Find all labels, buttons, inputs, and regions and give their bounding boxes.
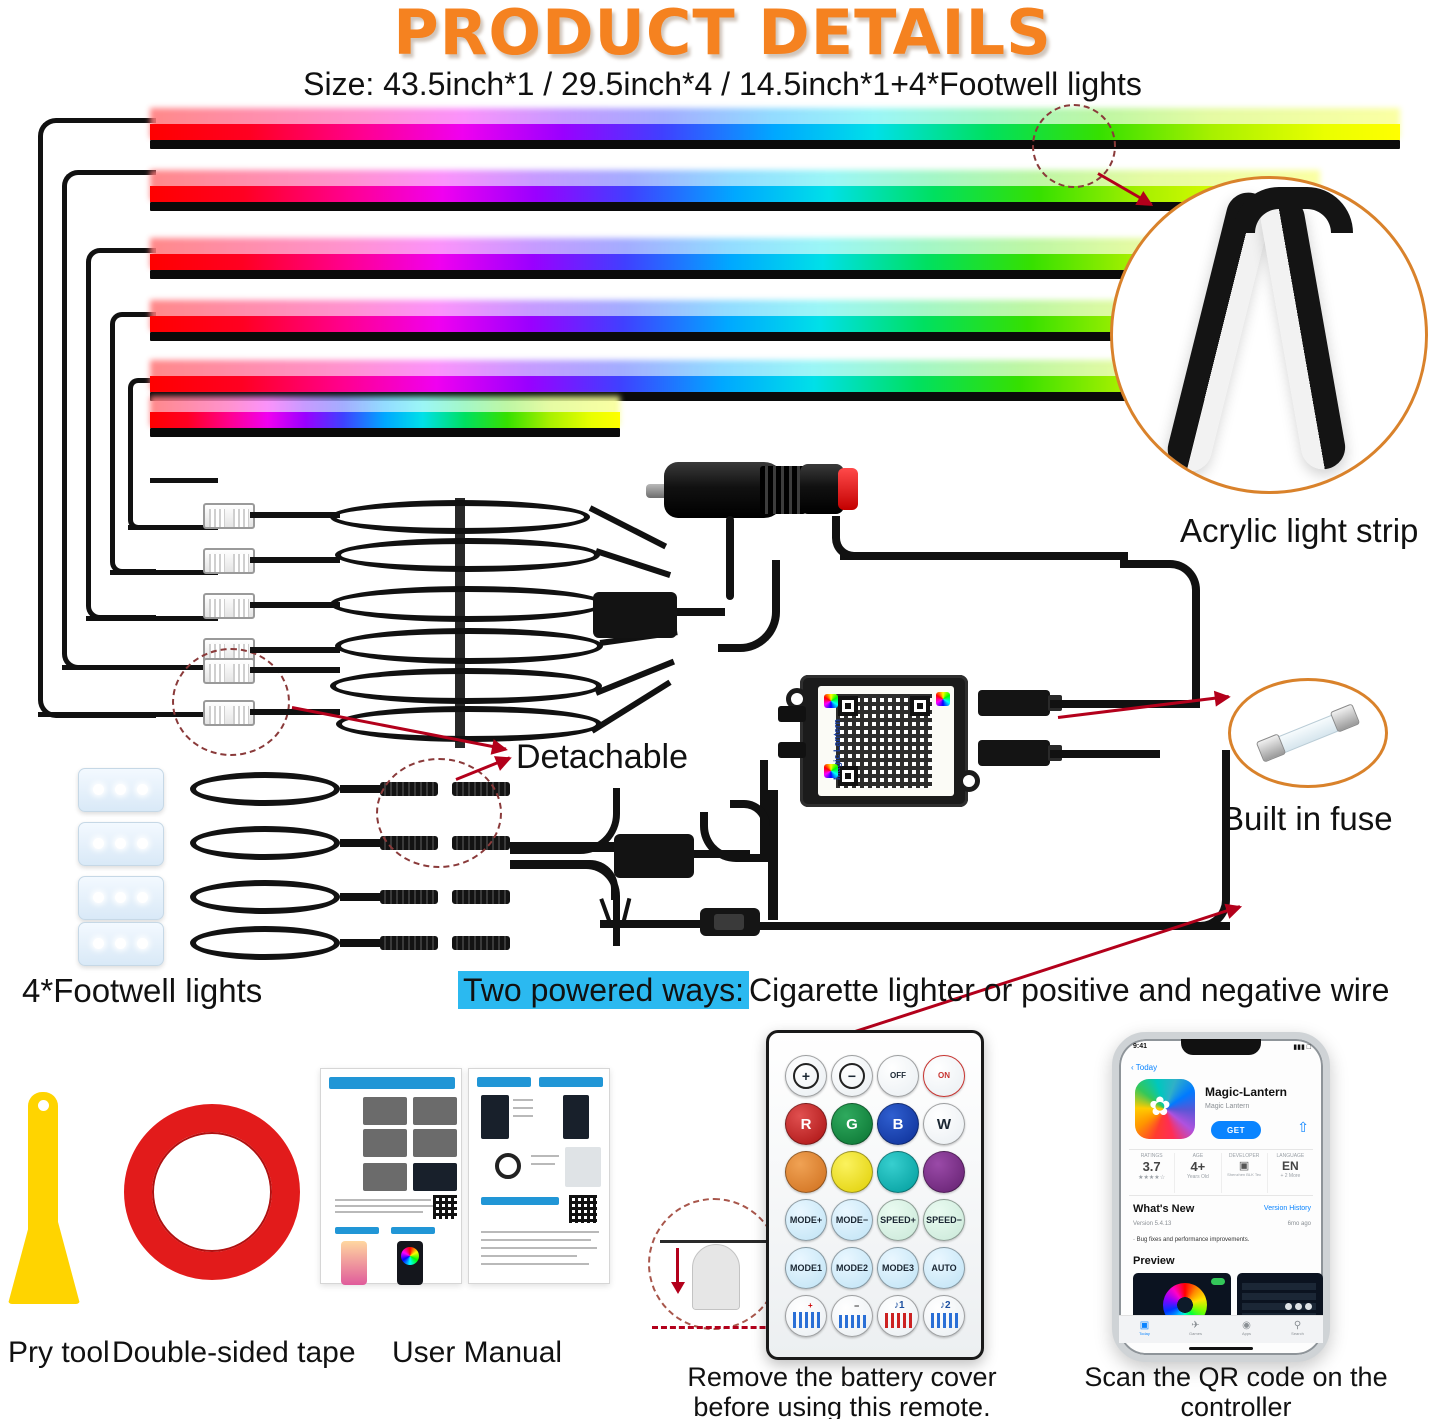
brand-logo-chip bbox=[936, 692, 950, 706]
footwell-cable bbox=[190, 772, 340, 806]
manual-page-2 bbox=[468, 1068, 610, 1284]
double-sided-tape-roll bbox=[124, 1104, 300, 1280]
app-version: Version 5.4.13 bbox=[1133, 1221, 1171, 1227]
app-stats-row: RATINGS 3.7 ★★★★☆ AGE 4+ Years Old DEVEL… bbox=[1129, 1153, 1313, 1193]
phone-back-link[interactable]: ‹ Today bbox=[1131, 1063, 1157, 1072]
tab-label: Apps bbox=[1221, 1331, 1272, 1336]
color-blue-label: B bbox=[893, 1117, 904, 1132]
phone-tab-bar: ▣ Today ✈ Games ◉ Apps ⚲ Search bbox=[1119, 1315, 1323, 1343]
manual-header-band bbox=[477, 1077, 531, 1087]
brightness-up-button[interactable]: + bbox=[785, 1055, 827, 1097]
pry-tool-label: Pry tool bbox=[8, 1336, 110, 1370]
color-purple-button[interactable] bbox=[923, 1151, 965, 1193]
phone-status-icons: ▮▮▮ □ bbox=[1293, 1043, 1311, 1051]
harness-branch bbox=[595, 548, 671, 578]
pin-connector bbox=[203, 548, 255, 574]
cable-loop bbox=[335, 628, 603, 664]
color-white-label: W bbox=[937, 1117, 951, 1132]
stat-sub: ★★★★☆ bbox=[1129, 1174, 1174, 1181]
equalizer-icon bbox=[931, 1313, 959, 1328]
color-red-label: R bbox=[801, 1117, 812, 1132]
strip-tail-4 bbox=[110, 570, 218, 575]
controller-port bbox=[778, 706, 806, 722]
mode-down-button[interactable]: MODE− bbox=[831, 1199, 873, 1241]
footwell-jack-female bbox=[452, 890, 510, 904]
manual-subheader-band bbox=[335, 1227, 379, 1234]
brightness-down-button[interactable]: − bbox=[831, 1055, 873, 1097]
equalizer-icon bbox=[885, 1313, 913, 1328]
stat-age: AGE 4+ Years Old bbox=[1174, 1153, 1220, 1193]
search-icon: ⚲ bbox=[1272, 1320, 1323, 1331]
tab-games[interactable]: ✈ Games bbox=[1170, 1316, 1221, 1343]
manual-phone-figure bbox=[341, 1241, 367, 1285]
qr-eye bbox=[910, 696, 930, 716]
mode-down-label: MODE− bbox=[836, 1216, 868, 1225]
manual-text-line bbox=[513, 1099, 533, 1101]
mode2-button[interactable]: MODE2 bbox=[831, 1247, 873, 1289]
footwell-light-module bbox=[78, 768, 164, 812]
whats-new-heading: What's New bbox=[1133, 1203, 1194, 1215]
music-mode1-button[interactable]: ♪1 bbox=[877, 1295, 919, 1337]
cable-tie bbox=[455, 498, 465, 748]
scheduler-row bbox=[1242, 1283, 1316, 1290]
manual-photo bbox=[563, 1095, 589, 1139]
brightness-down-icon: − bbox=[839, 1063, 865, 1089]
strip-base bbox=[150, 140, 1400, 149]
qr-eye bbox=[838, 696, 858, 716]
footwell-lead bbox=[340, 939, 382, 947]
ir-remote-control[interactable]: + − OFF ON R G B W MODE+ bbox=[766, 1030, 984, 1360]
music-sensitivity-down-button[interactable]: − bbox=[831, 1295, 873, 1337]
battery-cover-arrow-shaft bbox=[676, 1248, 679, 1284]
equalizer-icon bbox=[839, 1315, 867, 1328]
manual-text-line bbox=[481, 1255, 577, 1257]
strip-core bbox=[150, 124, 1400, 140]
mode2-label: MODE2 bbox=[836, 1264, 868, 1273]
speed-down-button[interactable]: SPEED− bbox=[923, 1199, 965, 1241]
lotus-icon: ✿ bbox=[1149, 1093, 1171, 1119]
stat-sub: Years Old bbox=[1175, 1174, 1220, 1180]
acrylic-strip-photo-bend bbox=[1257, 193, 1348, 472]
acrylic-photo-inset bbox=[1110, 176, 1428, 494]
version-history-link[interactable]: Version History bbox=[1264, 1205, 1311, 1212]
share-icon[interactable]: ⇧ bbox=[1297, 1119, 1309, 1136]
manual-photo bbox=[413, 1129, 457, 1157]
stat-sub: + 2 More bbox=[1268, 1173, 1313, 1179]
power-off-icon: OFF bbox=[890, 1072, 906, 1080]
strip-core bbox=[150, 412, 620, 428]
dc-barrel-plug bbox=[978, 690, 1050, 716]
power-ways-rest: Cigarette lighter or positive and negati… bbox=[749, 972, 1389, 1008]
harness-branch bbox=[589, 505, 667, 549]
footwell-cable bbox=[190, 826, 340, 860]
mode3-label: MODE3 bbox=[882, 1264, 914, 1273]
remote-battery-caption: Remove the battery cover before using th… bbox=[632, 1362, 1052, 1419]
mount-ear bbox=[958, 770, 980, 792]
fuse-photo-inset bbox=[1228, 678, 1388, 788]
cable-loop bbox=[330, 586, 605, 622]
harness-lead bbox=[250, 557, 340, 563]
tab-today[interactable]: ▣ Today bbox=[1119, 1316, 1170, 1343]
strip-base bbox=[150, 428, 620, 437]
battery-cover-line bbox=[660, 1240, 772, 1243]
dc-route-corner bbox=[832, 516, 876, 560]
manual-text-line bbox=[531, 1155, 559, 1157]
manual-subheader-band bbox=[481, 1197, 559, 1205]
manual-subheader-band bbox=[391, 1227, 435, 1234]
power-toggle bbox=[1211, 1278, 1225, 1285]
stat-value: EN bbox=[1268, 1159, 1313, 1173]
built-in-fuse-label: Built in fuse bbox=[1222, 800, 1393, 838]
music-minus-icon: − bbox=[854, 1302, 859, 1311]
app-caption-line1: Scan the QR code on the controller bbox=[1084, 1362, 1387, 1419]
brightness-up-icon: + bbox=[793, 1063, 819, 1089]
scheduler-row bbox=[1242, 1293, 1316, 1300]
stat-value: 3.7 bbox=[1129, 1159, 1174, 1174]
footwell-cable bbox=[190, 880, 340, 914]
footwell-light-module bbox=[78, 822, 164, 866]
power-ways-highlight: Two powered ways: bbox=[458, 971, 749, 1009]
manual-text-line bbox=[481, 1263, 589, 1265]
manual-qr-code bbox=[433, 1195, 457, 1219]
manual-text-line bbox=[335, 1205, 435, 1207]
equalizer-icon bbox=[793, 1312, 821, 1328]
color-red-button[interactable]: R bbox=[785, 1103, 827, 1145]
music-mode2-button[interactable]: ♪2 bbox=[923, 1295, 965, 1337]
music-sensitivity-up-button[interactable]: + bbox=[785, 1295, 827, 1337]
games-icon: ✈ bbox=[1170, 1320, 1221, 1331]
manual-photo bbox=[363, 1163, 407, 1191]
manual-photo bbox=[363, 1129, 407, 1157]
divider bbox=[1129, 1149, 1313, 1150]
manual-qr-code bbox=[569, 1195, 597, 1223]
pry-tool-hole bbox=[38, 1100, 49, 1111]
led-strip-1 bbox=[150, 108, 1400, 154]
auto-label: AUTO bbox=[931, 1264, 956, 1273]
preview-heading: Preview bbox=[1133, 1255, 1175, 1267]
tab-search[interactable]: ⚲ Search bbox=[1272, 1316, 1323, 1343]
harness-lead bbox=[250, 647, 340, 653]
dc-route-down bbox=[1150, 750, 1230, 930]
product-details-infographic: PRODUCT DETAILS Size: 43.5inch*1 / 29.5i… bbox=[0, 0, 1445, 1419]
page-title: PRODUCT DETAILS bbox=[0, 0, 1445, 69]
music-mode2-icon: ♪2 bbox=[940, 1301, 951, 1311]
manual-page-1 bbox=[320, 1068, 462, 1284]
dc-route-up bbox=[1120, 560, 1200, 708]
apps-icon: ◉ bbox=[1221, 1320, 1272, 1331]
inline-fuse-body bbox=[714, 914, 744, 930]
footwell-lead bbox=[340, 785, 382, 793]
controller-port bbox=[778, 742, 806, 758]
music-mode1-icon: ♪1 bbox=[894, 1301, 905, 1311]
footwell-branch bbox=[510, 842, 615, 852]
stat-sub: Shenzhen BLK Tec bbox=[1222, 1172, 1267, 1177]
manual-photo bbox=[481, 1095, 509, 1139]
footwell-cable bbox=[190, 926, 340, 960]
color-cyan-button[interactable] bbox=[877, 1151, 919, 1193]
manual-header-band bbox=[329, 1077, 455, 1089]
color-green-label: G bbox=[846, 1117, 858, 1132]
music-plus-icon: + bbox=[808, 1302, 813, 1310]
footwell-jack-female bbox=[452, 936, 510, 950]
manual-text-line bbox=[335, 1211, 423, 1213]
manual-text-line bbox=[531, 1163, 555, 1165]
harness-branch bbox=[595, 659, 675, 696]
brand-logo-chip bbox=[824, 694, 838, 708]
footwell-lights-label: 4*Footwell lights bbox=[22, 972, 262, 1010]
speed-up-button[interactable]: SPEED+ bbox=[877, 1199, 919, 1241]
mode1-button[interactable]: MODE1 bbox=[785, 1247, 827, 1289]
app-developer: Magic Lantern bbox=[1205, 1103, 1249, 1110]
stat-language: LANGUAGE EN + 2 More bbox=[1267, 1153, 1313, 1193]
stat-value: ▣ bbox=[1222, 1159, 1267, 1172]
power-ways-caption: Two powered ways:Cigarette lighter or po… bbox=[458, 972, 1389, 1009]
harness-lead bbox=[250, 667, 340, 673]
manual-header-band bbox=[539, 1077, 603, 1087]
stat-value: 4+ bbox=[1175, 1159, 1220, 1174]
pin-connector bbox=[203, 503, 255, 529]
changelog-text: · Bug fixes and performance improvements… bbox=[1133, 1237, 1249, 1243]
size-subtitle: Size: 43.5inch*1 / 29.5inch*4 / 14.5inch… bbox=[0, 66, 1445, 103]
battery-cover-tab bbox=[692, 1244, 740, 1310]
manual-cable-figure bbox=[495, 1153, 521, 1179]
color-orange-button[interactable] bbox=[785, 1151, 827, 1193]
manual-text-line bbox=[481, 1231, 599, 1233]
remote-caption-line2: before using this remote. bbox=[693, 1392, 990, 1419]
phone-back-label: Today bbox=[1136, 1063, 1157, 1072]
smartphone-mockup: 9:41 ▮▮▮ □ ‹ Today ✿ Magic-Lantern Magic… bbox=[1112, 1032, 1330, 1362]
dc-route-bottom bbox=[760, 922, 1230, 930]
mode-up-label: MODE+ bbox=[790, 1216, 822, 1225]
detachable-highlight-circle-upper bbox=[172, 648, 290, 756]
plug-end-cap bbox=[838, 468, 858, 510]
manual-colorwheel-figure bbox=[401, 1247, 419, 1265]
manual-text-line bbox=[335, 1199, 431, 1201]
divider bbox=[1129, 1195, 1313, 1196]
color-green-button[interactable]: G bbox=[831, 1103, 873, 1145]
phone-notch bbox=[1181, 1039, 1261, 1055]
power-on-button[interactable]: ON bbox=[923, 1055, 965, 1097]
remote-caption-line1: Remove the battery cover bbox=[687, 1362, 996, 1392]
color-yellow-button[interactable] bbox=[831, 1151, 873, 1193]
app-name: Magic-Lantern bbox=[1205, 1085, 1287, 1099]
plug-lead-curve bbox=[718, 560, 780, 652]
app-download-caption: Scan the QR code on the controller or ma… bbox=[1030, 1362, 1442, 1419]
cable-loop bbox=[335, 538, 600, 572]
acrylic-strip-label: Acrylic light strip bbox=[1180, 512, 1418, 550]
tab-apps[interactable]: ◉ Apps bbox=[1221, 1316, 1272, 1343]
tab-label: Today bbox=[1119, 1331, 1170, 1336]
stat-ratings: RATINGS 3.7 ★★★★☆ bbox=[1129, 1153, 1174, 1193]
dc-lead bbox=[1050, 750, 1160, 758]
harness-lead bbox=[250, 602, 340, 608]
footwell-jack-male bbox=[380, 890, 438, 904]
harness-hub bbox=[593, 592, 677, 638]
brand-logo-chip bbox=[824, 764, 838, 778]
footwell-branch bbox=[510, 862, 620, 946]
manual-photo bbox=[363, 1097, 407, 1125]
detachable-highlight-circle-lower bbox=[376, 758, 502, 868]
footwell-lead bbox=[340, 839, 382, 847]
speed-down-label: SPEED− bbox=[926, 1216, 962, 1225]
day-toggle bbox=[1285, 1303, 1292, 1310]
strip-tail-6 bbox=[150, 478, 218, 483]
version-age: 6mo ago bbox=[1288, 1221, 1311, 1227]
footwell-lead bbox=[340, 893, 382, 901]
footwell-light-module bbox=[78, 922, 164, 966]
led-strip-6 bbox=[150, 396, 620, 442]
manual-text-line bbox=[513, 1115, 533, 1117]
mode1-label: MODE1 bbox=[790, 1264, 822, 1273]
pry-tool-blade bbox=[8, 1218, 80, 1304]
footwell-light-module bbox=[78, 876, 164, 920]
detachable-label: Detachable bbox=[516, 738, 688, 777]
color-blue-button[interactable]: B bbox=[877, 1103, 919, 1145]
manual-photo bbox=[413, 1163, 457, 1191]
dc-barrel-plug bbox=[978, 740, 1050, 766]
mode3-button[interactable]: MODE3 bbox=[877, 1247, 919, 1289]
get-button[interactable]: GET bbox=[1211, 1121, 1261, 1139]
power-off-button[interactable]: OFF bbox=[877, 1055, 919, 1097]
tab-label: Games bbox=[1170, 1331, 1221, 1336]
day-toggle bbox=[1295, 1303, 1302, 1310]
today-icon: ▣ bbox=[1119, 1320, 1170, 1331]
stat-developer: DEVELOPER ▣ Shenzhen BLK Tec bbox=[1221, 1153, 1267, 1193]
manual-text-line bbox=[481, 1239, 591, 1241]
mode-up-button[interactable]: MODE+ bbox=[785, 1199, 827, 1241]
manual-remote-figure bbox=[565, 1147, 601, 1187]
harness-lead bbox=[250, 512, 340, 518]
cable-loop bbox=[330, 668, 602, 704]
phone-status-time: 9:41 bbox=[1133, 1043, 1147, 1050]
pin-connector bbox=[203, 593, 255, 619]
pry-tool-handle bbox=[28, 1092, 58, 1238]
manual-text-line bbox=[481, 1247, 597, 1249]
auto-button[interactable]: AUTO bbox=[923, 1247, 965, 1289]
double-sided-tape-label: Double-sided tape bbox=[112, 1336, 356, 1370]
user-manual-label: User Manual bbox=[392, 1336, 562, 1370]
dc-route-top bbox=[840, 552, 1128, 560]
power-on-icon: ON bbox=[938, 1072, 950, 1080]
manual-text-line bbox=[513, 1107, 533, 1109]
footwell-hub bbox=[614, 834, 694, 878]
footwell-jack-male bbox=[380, 936, 438, 950]
footwell-hub-curve bbox=[730, 800, 770, 856]
strip-tail-3 bbox=[86, 616, 218, 621]
home-indicator bbox=[1189, 1347, 1253, 1350]
color-white-button[interactable]: W bbox=[923, 1103, 965, 1145]
day-toggle bbox=[1305, 1303, 1312, 1310]
speed-up-label: SPEED+ bbox=[880, 1216, 916, 1225]
manual-photo bbox=[413, 1097, 457, 1125]
battery-cover-arrow-head bbox=[671, 1282, 685, 1294]
tab-label: Search bbox=[1272, 1331, 1323, 1336]
